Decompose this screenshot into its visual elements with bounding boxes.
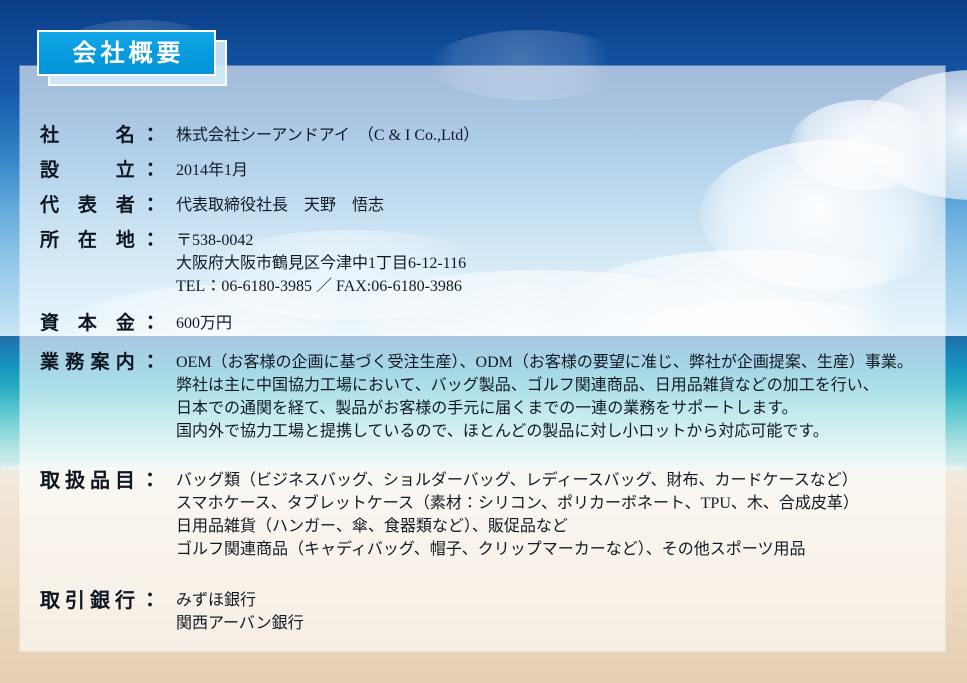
row-value-banks: みずほ銀行 関西アーバン銀行: [162, 585, 940, 635]
page-title-tab: 会社概要: [37, 30, 227, 86]
table-row-business: 業務案内： OEM（お客様の企画に基づく受注生産）、ODM（お客様の要望に准じ、…: [40, 347, 940, 443]
text-line: TEL：06-6180-3985 ／ FAX:06-6180-3986: [176, 275, 940, 298]
table-row-products: 取扱品目： バッグ類（ビジネスバッグ、ショルダーバッグ、レディースバッグ、財布、…: [40, 465, 940, 561]
text-line: 代表取締役社長 天野 悟志: [176, 194, 940, 218]
row-label-representative: 代 表 者：: [40, 190, 162, 221]
page-title-tab-face: 会社概要: [37, 30, 216, 76]
table-row-established: 設 立： 2014年1月: [40, 155, 940, 186]
row-label-banks: 取引銀行：: [40, 585, 162, 616]
text-line: バッグ類（ビジネスバッグ、ショルダーバッグ、レディースバッグ、財布、カードケース…: [176, 469, 940, 492]
page-title: 会社概要: [69, 41, 185, 65]
row-label-products: 取扱品目：: [40, 465, 162, 496]
text-line: OEM（お客様の企画に基づく受注生産）、ODM（お客様の要望に准じ、弊社が企画提…: [176, 351, 940, 374]
text-line: 国内外で協力工場と提携しているので、ほとんどの製品に対し小ロットから対応可能です…: [176, 420, 940, 443]
row-value-established: 2014年1月: [162, 155, 940, 183]
row-label-address: 所 在 地：: [40, 225, 162, 256]
text-line: みずほ銀行: [176, 589, 940, 612]
text-line: 〒538-0042: [176, 229, 940, 252]
company-info-table: 社 名： 株式会社シーアンドアイ （C & I Co.,Ltd） 設 立： 20…: [40, 120, 940, 635]
row-value-products: バッグ類（ビジネスバッグ、ショルダーバッグ、レディースバッグ、財布、カードケース…: [162, 465, 940, 561]
row-value-company-name: 株式会社シーアンドアイ （C & I Co.,Ltd）: [162, 120, 940, 148]
text-line: 日用品雑貨（ハンガー、傘、食器類など）、販促品など: [176, 515, 940, 538]
text-line: 2014年1月: [176, 159, 940, 183]
company-profile-page: 会社概要 社 名： 株式会社シーアンドアイ （C & I Co.,Ltd） 設 …: [0, 0, 967, 683]
row-label-company-name: 社 名：: [40, 120, 162, 151]
table-row-address: 所 在 地： 〒538-0042 大阪府大阪市鶴見区今津中1丁目6-12-116…: [40, 225, 940, 298]
table-row-banks: 取引銀行： みずほ銀行 関西アーバン銀行: [40, 585, 940, 635]
text-line: スマホケース、タブレットケース（素材：シリコン、ポリカーボネート、TPU、木、合…: [176, 492, 940, 515]
row-label-established: 設 立：: [40, 155, 162, 186]
text-line: 日本での通関を経て、製品がお客様の手元に届くまでの一連の業務をサポートします。: [176, 397, 940, 420]
text-line: ゴルフ関連商品（キャディバッグ、帽子、クリップマーカーなど）、その他スポーツ用品: [176, 538, 940, 561]
table-row-company-name: 社 名： 株式会社シーアンドアイ （C & I Co.,Ltd）: [40, 120, 940, 151]
text-line: 株式会社シーアンドアイ （C & I Co.,Ltd）: [176, 124, 940, 148]
row-value-capital: 600万円: [162, 308, 940, 336]
row-value-representative: 代表取締役社長 天野 悟志: [162, 190, 940, 218]
row-label-business: 業務案内：: [40, 347, 162, 378]
row-value-business: OEM（お客様の企画に基づく受注生産）、ODM（お客様の要望に准じ、弊社が企画提…: [162, 347, 940, 443]
text-line: 関西アーバン銀行: [176, 612, 940, 635]
text-line: 600万円: [176, 312, 940, 336]
text-line: 大阪府大阪市鶴見区今津中1丁目6-12-116: [176, 252, 940, 275]
text-line: 弊社は主に中国協力工場において、バッグ製品、ゴルフ関連商品、日用品雑貨などの加工…: [176, 374, 940, 397]
row-value-address: 〒538-0042 大阪府大阪市鶴見区今津中1丁目6-12-116 TEL：06…: [162, 225, 940, 298]
table-row-capital: 資 本 金： 600万円: [40, 308, 940, 339]
table-row-representative: 代 表 者： 代表取締役社長 天野 悟志: [40, 190, 940, 221]
row-label-capital: 資 本 金：: [40, 308, 162, 339]
